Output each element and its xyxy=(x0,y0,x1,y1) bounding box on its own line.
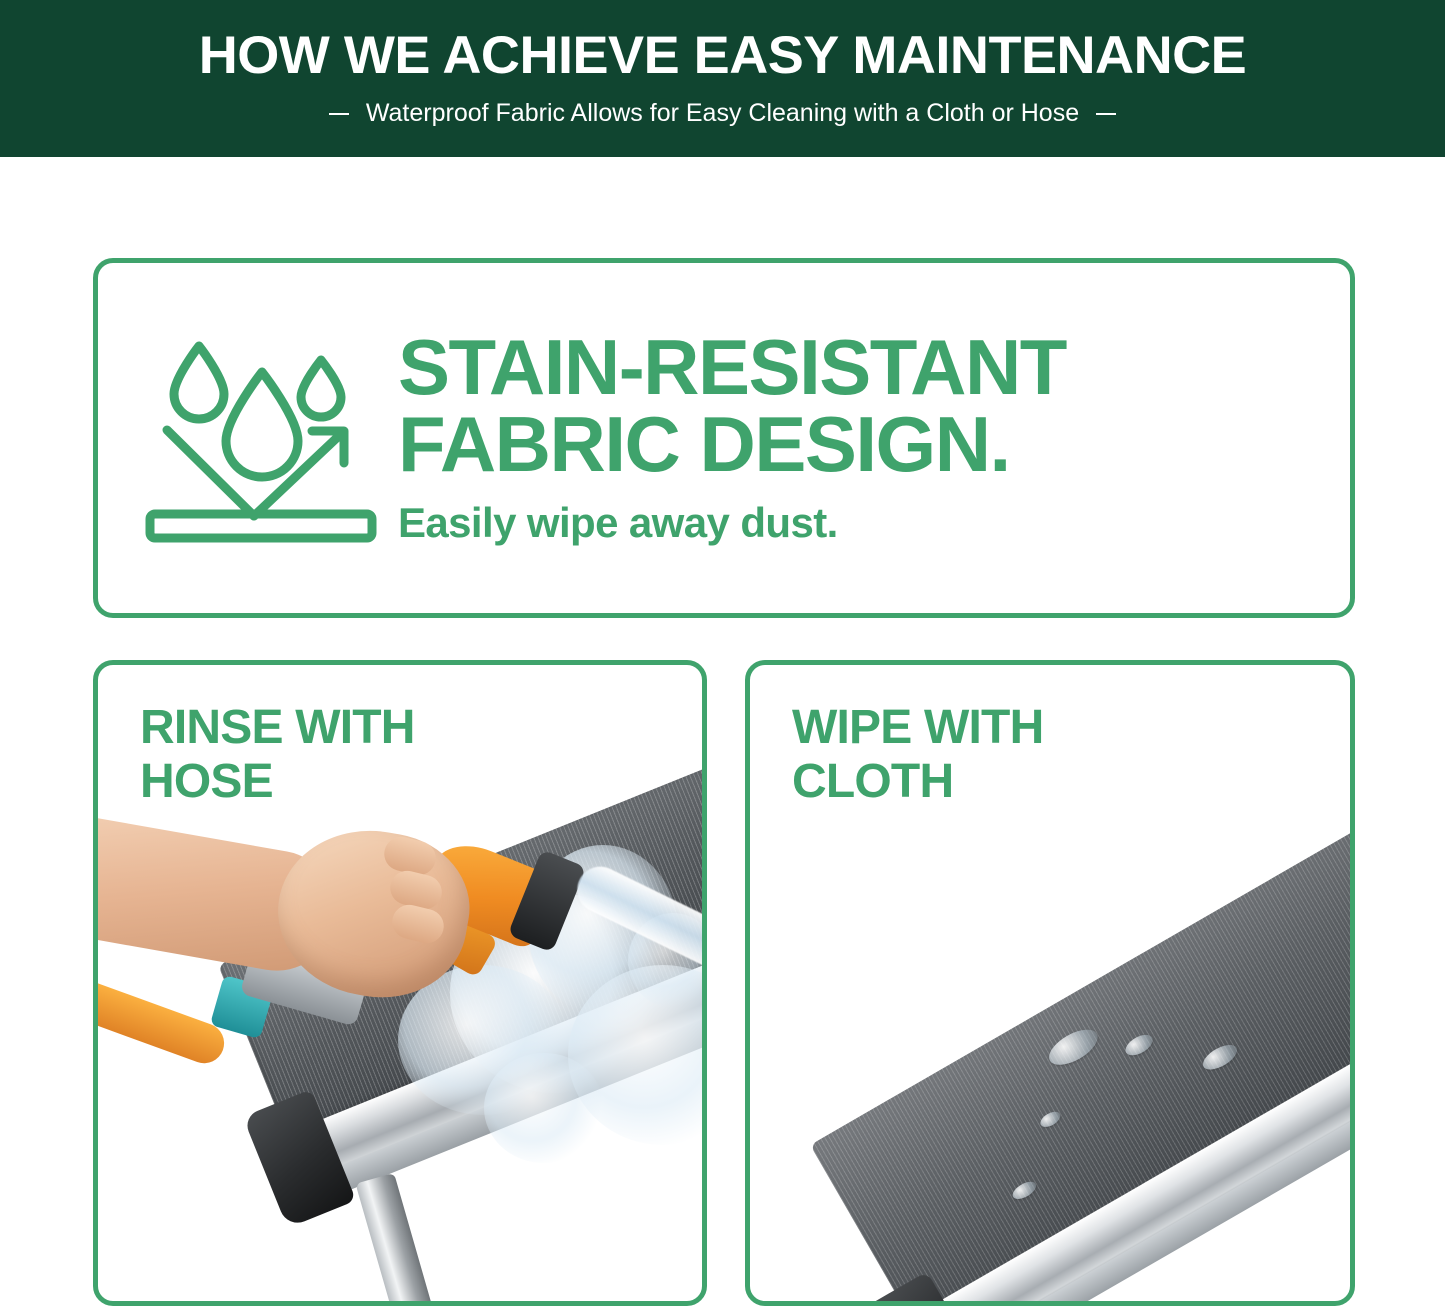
card-rinse-with-hose: RINSE WITH HOSE xyxy=(93,660,707,1306)
dash-right-icon xyxy=(1096,113,1116,115)
dash-left-icon xyxy=(329,113,349,115)
feature-card-text: STAIN-RESISTANT FABRIC DESIGN. Easily wi… xyxy=(398,329,1350,547)
page-header: HOW WE ACHIEVE EASY MAINTENANCE Waterpro… xyxy=(0,0,1445,157)
hand-spraying-hose-on-pet-cot-photo xyxy=(98,665,702,1301)
water-bead xyxy=(1038,1109,1063,1130)
page-subtitle: Waterproof Fabric Allows for Easy Cleani… xyxy=(366,99,1079,128)
water-bead xyxy=(1010,1178,1039,1202)
cot-leg-left xyxy=(356,1173,444,1301)
water-bead xyxy=(1044,1022,1104,1072)
card-wipe-with-cloth: WIPE WITH CLOTH xyxy=(745,660,1355,1306)
feature-headline-line2: FABRIC DESIGN. xyxy=(398,406,1320,483)
water-bead xyxy=(1122,1031,1156,1060)
water-repellent-droplets-icon xyxy=(98,332,398,544)
feature-subtext: Easily wipe away dust. xyxy=(398,499,1320,547)
page-title: HOW WE ACHIEVE EASY MAINTENANCE xyxy=(199,29,1246,82)
feature-headline-line1: STAIN-RESISTANT xyxy=(398,329,1320,406)
water-repellent-droplets-icon-svg xyxy=(144,332,382,544)
feature-card-stain-resistant: STAIN-RESISTANT FABRIC DESIGN. Easily wi… xyxy=(93,258,1355,618)
pet-cot-illustration xyxy=(810,765,1350,1301)
page-subtitle-row: Waterproof Fabric Allows for Easy Cleani… xyxy=(329,99,1116,128)
water-bead xyxy=(1199,1040,1241,1075)
garden-hose-tube xyxy=(98,973,230,1069)
hand-wiping-pet-cot-with-cloth-photo xyxy=(750,665,1350,1301)
feature-headline: STAIN-RESISTANT FABRIC DESIGN. xyxy=(398,329,1320,483)
hand-with-hose-nozzle xyxy=(98,795,618,1095)
